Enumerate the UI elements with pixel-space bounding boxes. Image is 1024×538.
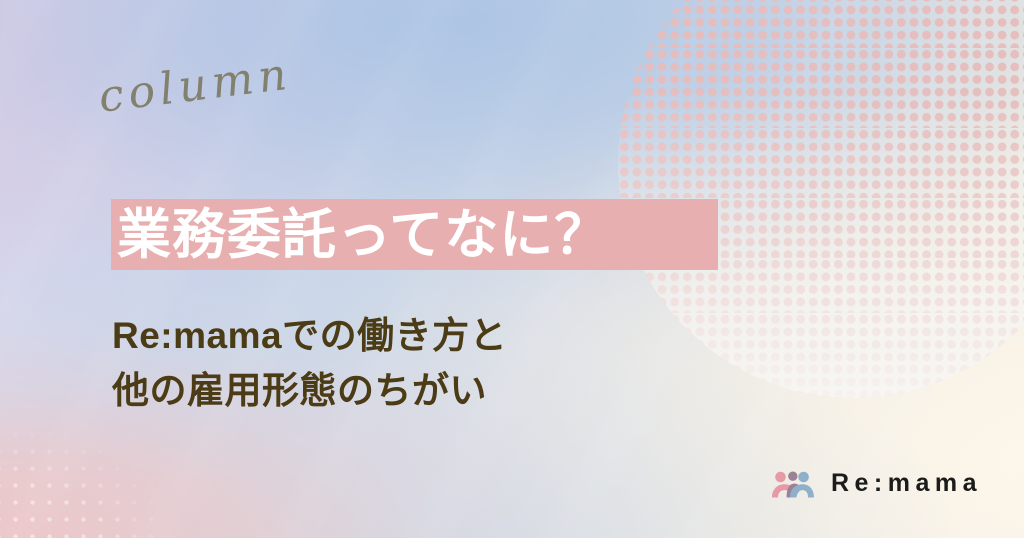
halftone-row-3 — [618, 128, 1024, 198]
halftone-row-6 — [618, 313, 1024, 363]
brand-wordmark: Re:mama — [831, 469, 982, 498]
subtitle-line-2: 他の雇用形態のちがい — [112, 364, 507, 419]
halftone-row-2 — [618, 48, 1024, 128]
headline-highlight-bar: 業務委託ってなに？ — [111, 199, 718, 270]
headline-text: 業務委託ってなに？ — [117, 208, 609, 262]
banner-canvas: column 業務委託ってなに？ Re:mamaでの働き方と 他の雇用形態のちが… — [0, 0, 1024, 538]
brand-logo: Re:mama — [771, 469, 982, 498]
subtitle-line-1: Re:mamaでの働き方と — [112, 309, 507, 364]
remama-people-mark-icon — [771, 470, 815, 498]
subtitle-block: Re:mamaでの働き方と 他の雇用形態のちがい — [112, 309, 507, 419]
halftone-row-1 — [618, 0, 1024, 48]
halftone-row-7 — [618, 363, 1024, 398]
